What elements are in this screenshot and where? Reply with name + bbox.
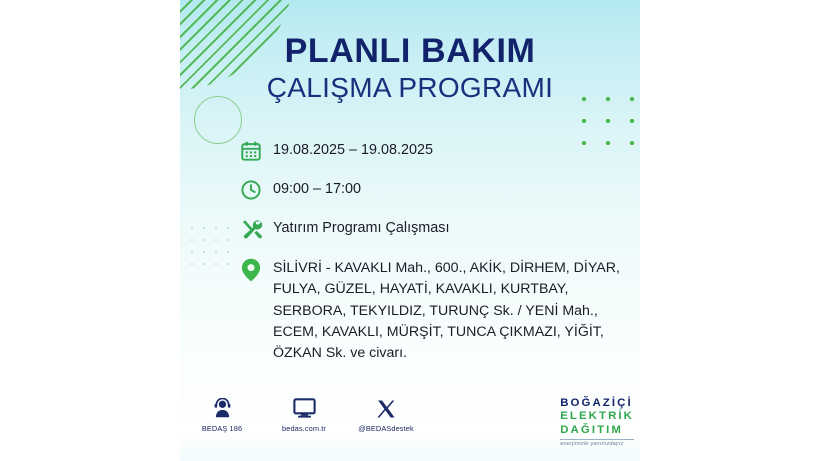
contact-call-center-label: BEDAŞ 186 [194,424,250,433]
tools-icon [238,216,264,242]
logo-line-elektrik: ELEKTRİK [560,410,634,423]
work-type-text: Yatırım Programı Çalışması [273,216,449,238]
card-heading: PLANLI BAKIM ÇALIŞMA PROGRAMI [180,34,640,104]
card-footer: BEDAŞ 186 bedas.com.tr [180,395,640,447]
screenshot-root: PLANLI BAKIM ÇALIŞMA PROGRAMI [0,0,820,461]
contact-x-social[interactable]: @BEDASdestek [358,395,414,433]
monitor-icon [276,395,332,419]
x-social-icon [358,395,414,419]
contact-list: BEDAŞ 186 bedas.com.tr [194,395,414,433]
contact-website[interactable]: bedas.com.tr [276,395,332,433]
info-list: 19.08.2025 – 19.08.2025 09:00 – 17:00 [238,138,628,377]
page-title: PLANLI BAKIM [180,34,640,69]
contact-website-label: bedas.com.tr [276,424,332,433]
calendar-icon [238,138,264,164]
contact-x-label: @BEDASdestek [358,424,414,433]
bedas-logo: BOĞAZİÇİ ELEKTRİK DAĞITIM enerjimizle ya… [560,397,634,447]
dot-grid-left-decoration [186,222,234,270]
logo-tagline: enerjimizle yanınızdayız [560,439,634,447]
info-row-work-type: Yatırım Programı Çalışması [238,216,628,242]
info-row-address: SİLİVRİ - KAVAKLI Mah., 600., AKİK, DİRH… [238,255,628,364]
clock-icon [238,177,264,203]
info-row-date: 19.08.2025 – 19.08.2025 [238,138,628,164]
info-row-time: 09:00 – 17:00 [238,177,628,203]
call-center-agent-icon [194,395,250,419]
date-range-text: 19.08.2025 – 19.08.2025 [273,138,433,160]
announcement-card: PLANLI BAKIM ÇALIŞMA PROGRAMI [180,0,640,461]
contact-call-center[interactable]: BEDAŞ 186 [194,395,250,433]
location-pin-icon [238,255,264,283]
address-text: SİLİVRİ - KAVAKLI Mah., 600., AKİK, DİRH… [273,255,628,364]
time-range-text: 09:00 – 17:00 [273,177,361,199]
logo-line-dagitim: DAĞITIM [560,424,634,437]
page-subtitle: ÇALIŞMA PROGRAMI [180,73,640,104]
logo-line-bogazici: BOĞAZİÇİ [560,397,634,410]
